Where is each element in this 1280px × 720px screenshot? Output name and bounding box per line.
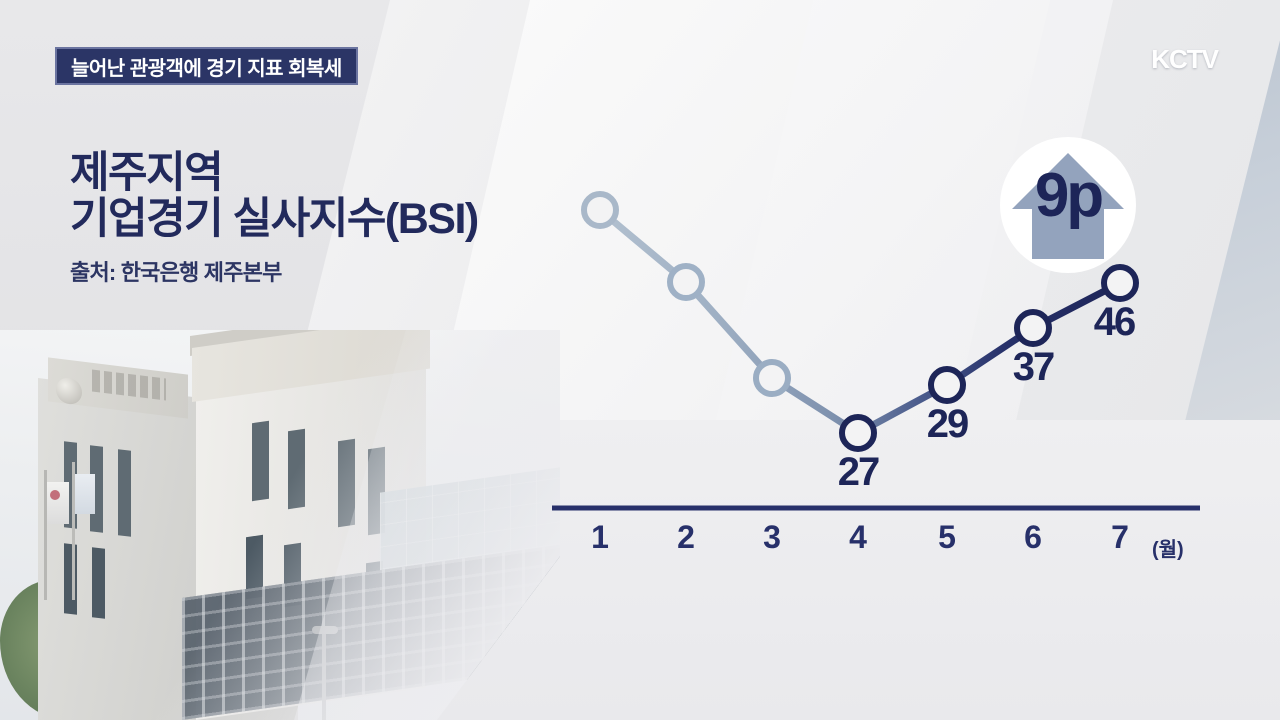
- x-axis-unit-label: (월): [1152, 533, 1184, 562]
- data-point-label: 46: [1094, 300, 1135, 344]
- data-point-marker: [1017, 312, 1049, 344]
- bsi-line-chart: 272937461234567: [0, 0, 1280, 720]
- broadcast-graphic: 늘어난 관광객에 경기 지표 회복세 KCTV 제주지역 기업경기 실사지수(B…: [0, 0, 1280, 720]
- x-axis-tick-label: 7: [1111, 519, 1129, 555]
- data-point-label: 37: [1013, 345, 1054, 389]
- badge-value: 9p: [1000, 165, 1136, 227]
- x-axis-tick-label: 1: [591, 519, 609, 555]
- change-badge: 9p: [1000, 137, 1136, 273]
- x-axis-tick-label: 2: [677, 519, 695, 555]
- data-point-marker: [931, 369, 963, 401]
- x-axis-tick-label: 4: [849, 519, 867, 555]
- data-point-marker: [584, 194, 616, 226]
- x-axis-tick-label: 3: [763, 519, 781, 555]
- data-point-marker: [842, 417, 874, 449]
- x-axis-tick-label: 5: [938, 519, 956, 555]
- x-axis-tick-label: 6: [1024, 519, 1042, 555]
- data-point-marker: [756, 362, 788, 394]
- data-point-marker: [670, 266, 702, 298]
- data-point-label: 27: [838, 450, 879, 494]
- data-point-label: 29: [927, 402, 968, 446]
